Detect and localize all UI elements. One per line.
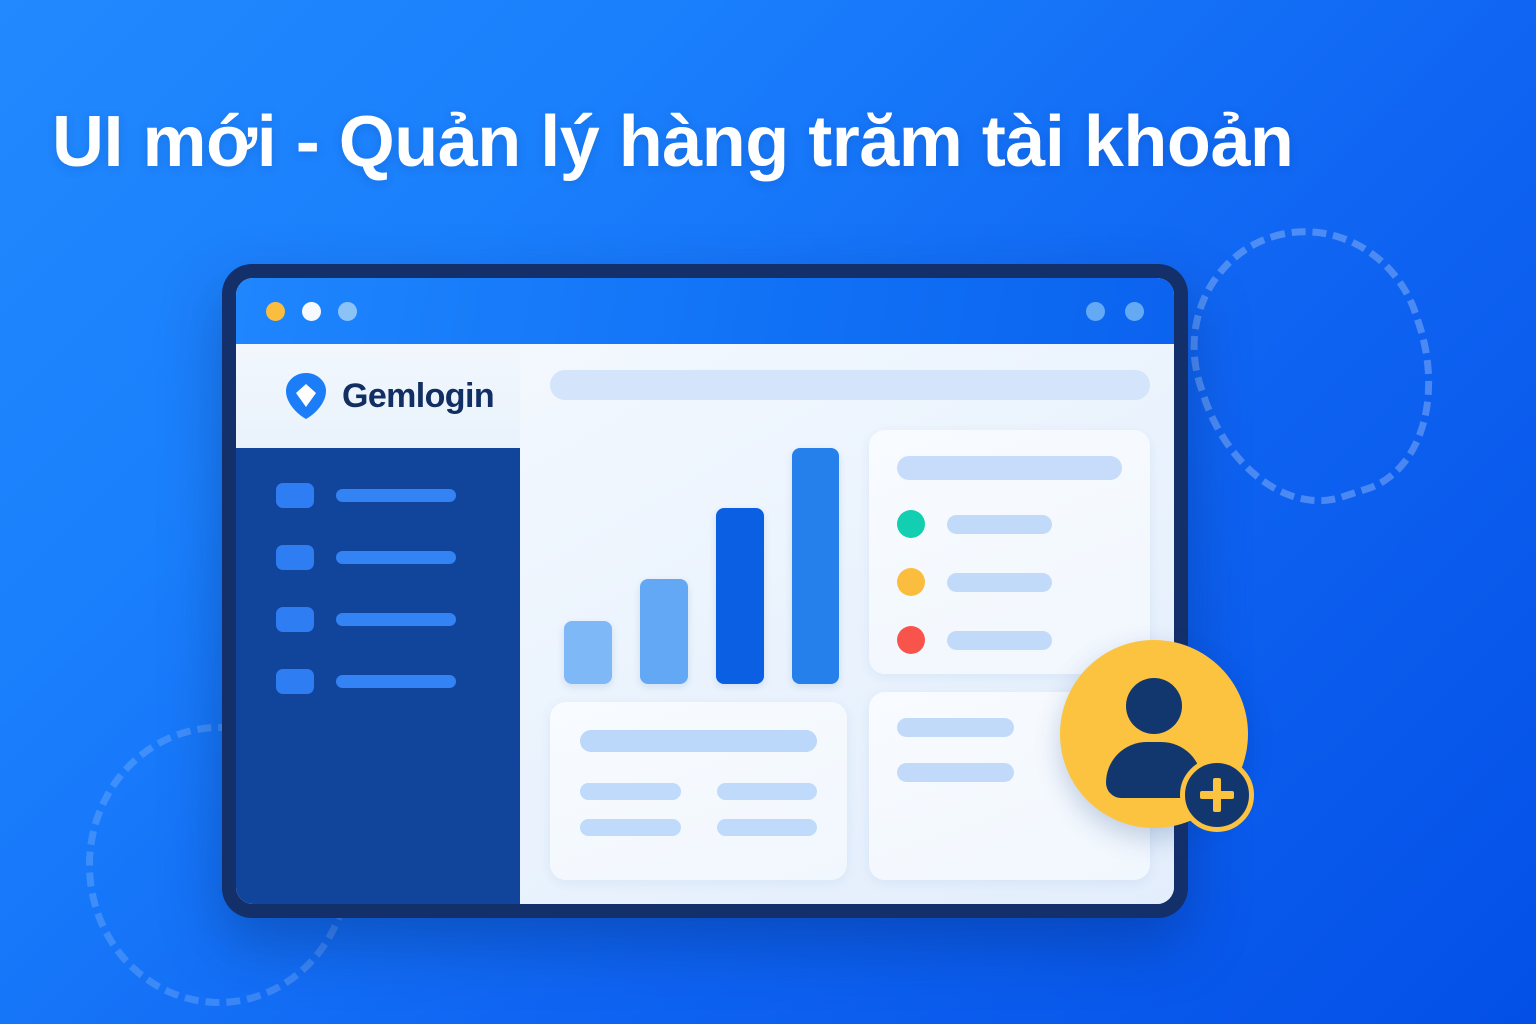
stat-cell [717,819,818,836]
status-badge-pending [897,568,925,596]
table-row [580,783,817,800]
search-bar-placeholder[interactable] [550,370,1150,400]
sidebar-item-label [336,489,456,502]
status-list-card[interactable] [869,430,1150,674]
plus-icon[interactable] [1180,758,1254,832]
add-account-avatar[interactable] [1060,640,1248,828]
user-head-icon [1126,678,1182,734]
sidebar-item-1[interactable] [276,482,520,508]
sidebar-item-label [336,675,456,688]
stat-cell [580,819,681,836]
content-column-left [550,430,847,880]
minimize-dot[interactable] [266,302,285,321]
summary-bar-2 [897,763,1014,782]
list-item-label [947,573,1052,592]
sidebar-item-3[interactable] [276,606,520,632]
nav-icon-dashboard [276,483,314,508]
sidebar: Gemlogin [236,344,520,904]
nav-icon-profiles [276,545,314,570]
list-item-label [947,515,1052,534]
status-badge-error [897,626,925,654]
list-item[interactable] [897,510,1122,538]
poster-canvas: UI mới - Quản lý hàng trăm tài khoản [0,0,1536,1024]
summary-bar-1 [897,718,1014,737]
window-titlebar [236,278,1174,344]
stat-cell [717,783,818,800]
browser-window-inner: Gemlogin [236,278,1174,904]
table-row [580,819,817,836]
list-item[interactable] [897,568,1122,596]
chart-bar-3 [716,508,764,684]
sidebar-item-label [336,613,456,626]
action-dot-1[interactable] [1086,302,1105,321]
sidebar-item-4[interactable] [276,668,520,694]
sidebar-nav [236,448,520,904]
nav-icon-settings [276,669,314,694]
page-title: UI mới - Quản lý hàng trăm tài khoản [52,104,1372,180]
window-body: Gemlogin [236,344,1174,904]
sidebar-item-label [336,551,456,564]
gem-shield-icon [284,372,328,420]
browser-window: Gemlogin [222,264,1188,918]
titlebar-actions [1066,302,1144,321]
brand-name: Gemlogin [342,377,494,416]
action-dot-2[interactable] [1125,302,1144,321]
brand-header[interactable]: Gemlogin [236,344,520,448]
stats-card[interactable] [550,702,847,880]
stats-title-placeholder [580,730,817,752]
sidebar-item-2[interactable] [276,544,520,570]
list-header-placeholder [897,456,1122,480]
maximize-dot[interactable] [302,302,321,321]
close-dot[interactable] [338,302,357,321]
nav-icon-automation [276,607,314,632]
chart-bar-4 [792,448,840,684]
list-item-label [947,631,1052,650]
bar-chart [550,430,847,702]
chart-bar-1 [564,621,612,684]
stat-cell [580,783,681,800]
dashed-circle-top-right [1159,198,1467,533]
chart-bar-2 [640,579,688,684]
status-badge-online [897,510,925,538]
